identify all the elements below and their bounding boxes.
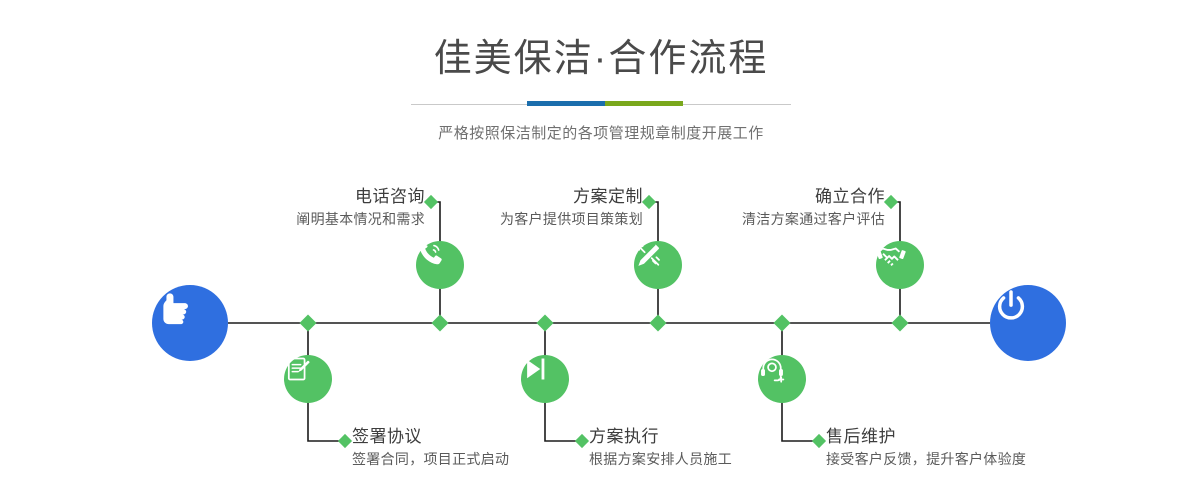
handshake-icon: [876, 241, 906, 271]
label-title: 签署协议: [352, 426, 509, 448]
label-diamond: [338, 434, 352, 448]
node-icon-plan-customize[interactable]: [634, 241, 682, 289]
node-icon-phone-consult[interactable]: [416, 241, 464, 289]
label-desc: 接受客户反馈，提升客户体验度: [826, 448, 1026, 470]
node-icon-confirm-cooperation[interactable]: [876, 241, 924, 289]
label-diamond: [575, 434, 589, 448]
flow-diagram: 电话咨询 阐明基本情况和需求 方案定制 为客户提供项目策策划 确立合作 清洁方案…: [0, 0, 1202, 502]
label-title: 售后维护: [826, 426, 1026, 448]
label-title: 确立合作: [545, 186, 885, 208]
label-diamonds: [338, 195, 898, 448]
label-after-sales: 售后维护 接受客户反馈，提升客户体验度: [826, 426, 1026, 470]
label-diamond: [812, 434, 826, 448]
phone-call-icon: [416, 241, 444, 269]
headset-support-icon: [758, 355, 786, 383]
label-confirm-cooperation: 确立合作 清洁方案通过客户评估: [545, 186, 885, 230]
label-desc: 签署合同，项目正式启动: [352, 448, 509, 470]
node-icon-sign-agreement[interactable]: [284, 355, 332, 403]
document-edit-icon: [284, 355, 312, 383]
label-title: 方案执行: [589, 426, 732, 448]
label-plan-execute: 方案执行 根据方案安排人员施工: [589, 426, 732, 470]
label-desc: 清洁方案通过客户评估: [545, 208, 885, 230]
timeline-diamond: [537, 315, 554, 332]
timeline-diamond: [650, 315, 667, 332]
label-diamond: [884, 195, 898, 209]
pointing-hand-icon: [152, 285, 194, 327]
cooperation-process-infographic: 佳美保洁·合作流程 严格按照保洁制定的各项管理规章制度开展工作: [0, 0, 1202, 502]
label-desc: 根据方案安排人员施工: [589, 448, 732, 470]
play-skip-icon: [521, 355, 549, 383]
flow-start-node[interactable]: [152, 285, 228, 361]
label-sign-agreement: 签署协议 签署合同，项目正式启动: [352, 426, 509, 470]
timeline-diamond: [774, 315, 791, 332]
power-icon: [990, 285, 1032, 327]
node-icon-plan-execute[interactable]: [521, 355, 569, 403]
timeline-diamond: [892, 315, 909, 332]
node-icon-after-sales[interactable]: [758, 355, 806, 403]
timeline-diamond: [432, 315, 449, 332]
timeline-diamond: [300, 315, 317, 332]
flow-end-node[interactable]: [990, 285, 1066, 361]
pencil-ruler-icon: [634, 241, 662, 269]
